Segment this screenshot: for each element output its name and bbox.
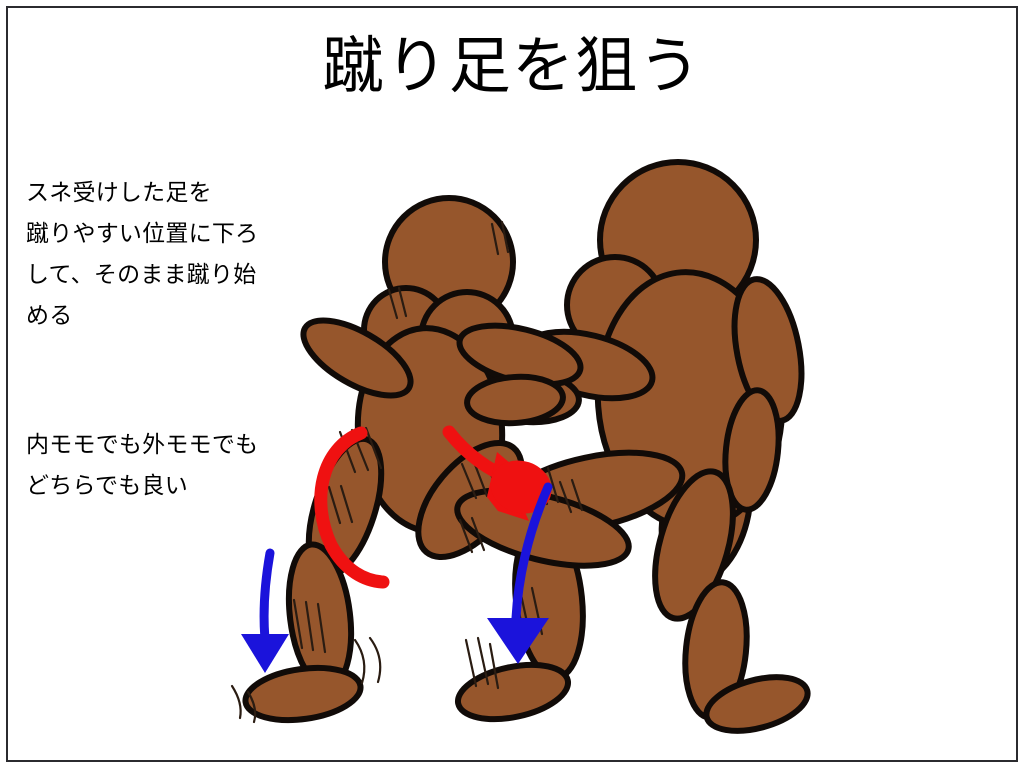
blue-arrow-left-foot	[241, 553, 289, 673]
left-figure-rear-foot	[242, 661, 364, 727]
slide-canvas: 蹴り足を狙う スネ受けした足を 蹴りやすい位置に下ろ して、そのまま蹴り始 める…	[0, 0, 1024, 768]
illustration-two-fighters: .bd { fill: #96562c; stroke: #110b08; st…	[0, 0, 1024, 768]
